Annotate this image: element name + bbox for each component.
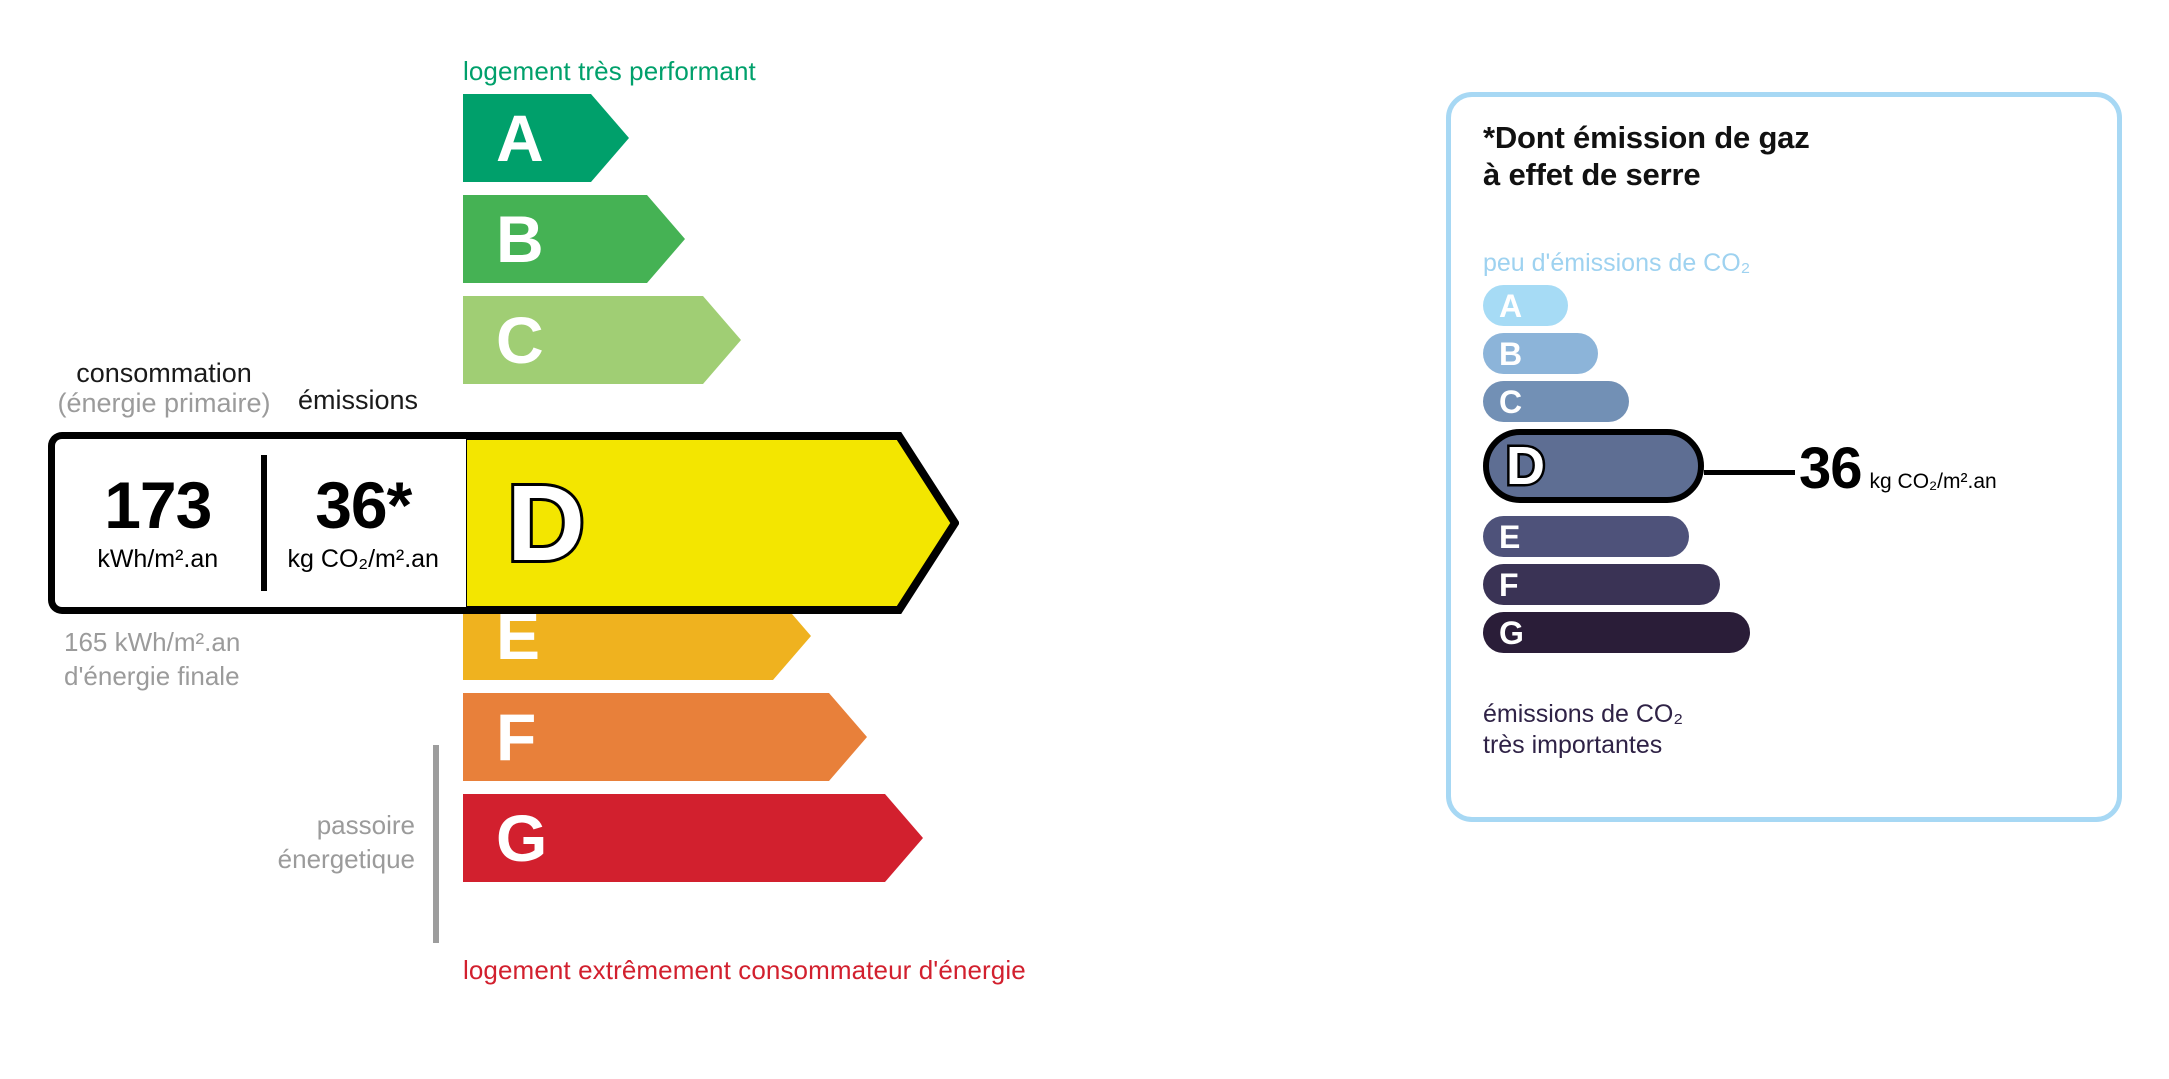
co2-bar-f: F: [1483, 564, 1720, 605]
co2-bottom-caption-line2: très importantes: [1483, 730, 1683, 761]
passoire-divider: [433, 745, 439, 943]
final-energy-value: 165 kWh/m².an: [64, 626, 240, 660]
energy-bar-f: F: [463, 693, 867, 781]
co2-bar-b: B: [1483, 333, 1598, 374]
energy-bottom-caption: logement extrêmement consommateur d'éner…: [463, 955, 1026, 986]
co2-bottom-caption-line1: émissions de CO₂: [1483, 699, 1683, 730]
energy-bar-letter-g: G: [496, 805, 547, 871]
current-rating-row: D 173 kWh/m².an 36* kg CO₂/m².an: [48, 432, 1058, 614]
emission-value: 36*: [315, 472, 411, 538]
consumption-label: consommation (énergie primaire): [50, 358, 278, 418]
co2-bar-d: D: [1483, 429, 1704, 503]
co2-panel: *Dont émission de gaz à effet de serre p…: [1446, 92, 2122, 822]
co2-callout-value: 36: [1799, 440, 1862, 498]
co2-bar-letter-f: F: [1499, 569, 1519, 601]
passoire-label-line1: passoire: [180, 808, 415, 842]
consumption-label-sub: (énergie primaire): [50, 388, 278, 418]
co2-bar-letter-g: G: [1499, 617, 1524, 649]
energy-bar-letter-d: D: [507, 469, 585, 577]
primary-energy-value: 173: [104, 472, 211, 538]
energy-bar-c: C: [463, 296, 741, 384]
energy-bar-b: B: [463, 195, 685, 283]
primary-energy-unit: kWh/m².an: [97, 545, 218, 574]
co2-callout-leader-line: [1704, 470, 1795, 475]
passoire-label-line2: énergetique: [180, 842, 415, 876]
co2-panel-title: *Dont émission de gaz à effet de serre: [1483, 119, 1810, 193]
arrow-shape-a: [463, 94, 629, 182]
rating-value-box: 173 kWh/m².an 36* kg CO₂/m².an: [48, 432, 466, 614]
energy-top-caption: logement très performant: [463, 56, 756, 87]
co2-bottom-caption: émissions de CO₂ très importantes: [1483, 699, 1683, 760]
energy-bar-letter-a: A: [496, 105, 544, 171]
emission-unit: kg CO₂/m².an: [288, 545, 439, 574]
co2-bar-a: A: [1483, 285, 1568, 326]
consumption-label-main: consommation: [50, 358, 278, 388]
co2-bar-letter-d: D: [1506, 439, 1545, 493]
energy-bar-g: G: [463, 794, 923, 882]
passoire-label: passoire énergetique: [180, 808, 415, 877]
energy-scale-panel: logement très performant A B: [0, 0, 1330, 1079]
energy-bar-letter-c: C: [496, 307, 544, 373]
energy-bar-a: A: [463, 94, 629, 182]
emissions-label: émissions: [298, 385, 418, 416]
final-energy-caption: d'énergie finale: [64, 660, 240, 694]
energy-bar-letter-b: B: [496, 206, 544, 272]
energy-bar-d: D: [459, 432, 959, 614]
co2-title-line2: à effet de serre: [1483, 156, 1810, 193]
co2-bar-letter-c: C: [1499, 386, 1522, 418]
co2-bar-letter-e: E: [1499, 521, 1520, 553]
co2-bar-c: C: [1483, 381, 1629, 422]
final-energy-note: 165 kWh/m².an d'énergie finale: [64, 626, 240, 694]
co2-callout-unit: kg CO₂/m².an: [1870, 470, 1997, 494]
co2-callout: 36 kg CO₂/m².an: [1799, 440, 1997, 498]
dpe-label: logement très performant A B: [0, 0, 2169, 1079]
energy-bar-letter-f: F: [496, 704, 536, 770]
emission-cell: 36* kg CO₂/m².an: [261, 439, 467, 607]
co2-bar-e: E: [1483, 516, 1689, 557]
co2-title-line1: *Dont émission de gaz: [1483, 119, 1810, 156]
primary-energy-cell: 173 kWh/m².an: [55, 439, 261, 607]
co2-bar-g: G: [1483, 612, 1750, 653]
co2-top-caption: peu d'émissions de CO₂: [1483, 249, 1750, 278]
co2-bar-letter-a: A: [1499, 290, 1522, 322]
co2-bar-letter-b: B: [1499, 338, 1522, 370]
